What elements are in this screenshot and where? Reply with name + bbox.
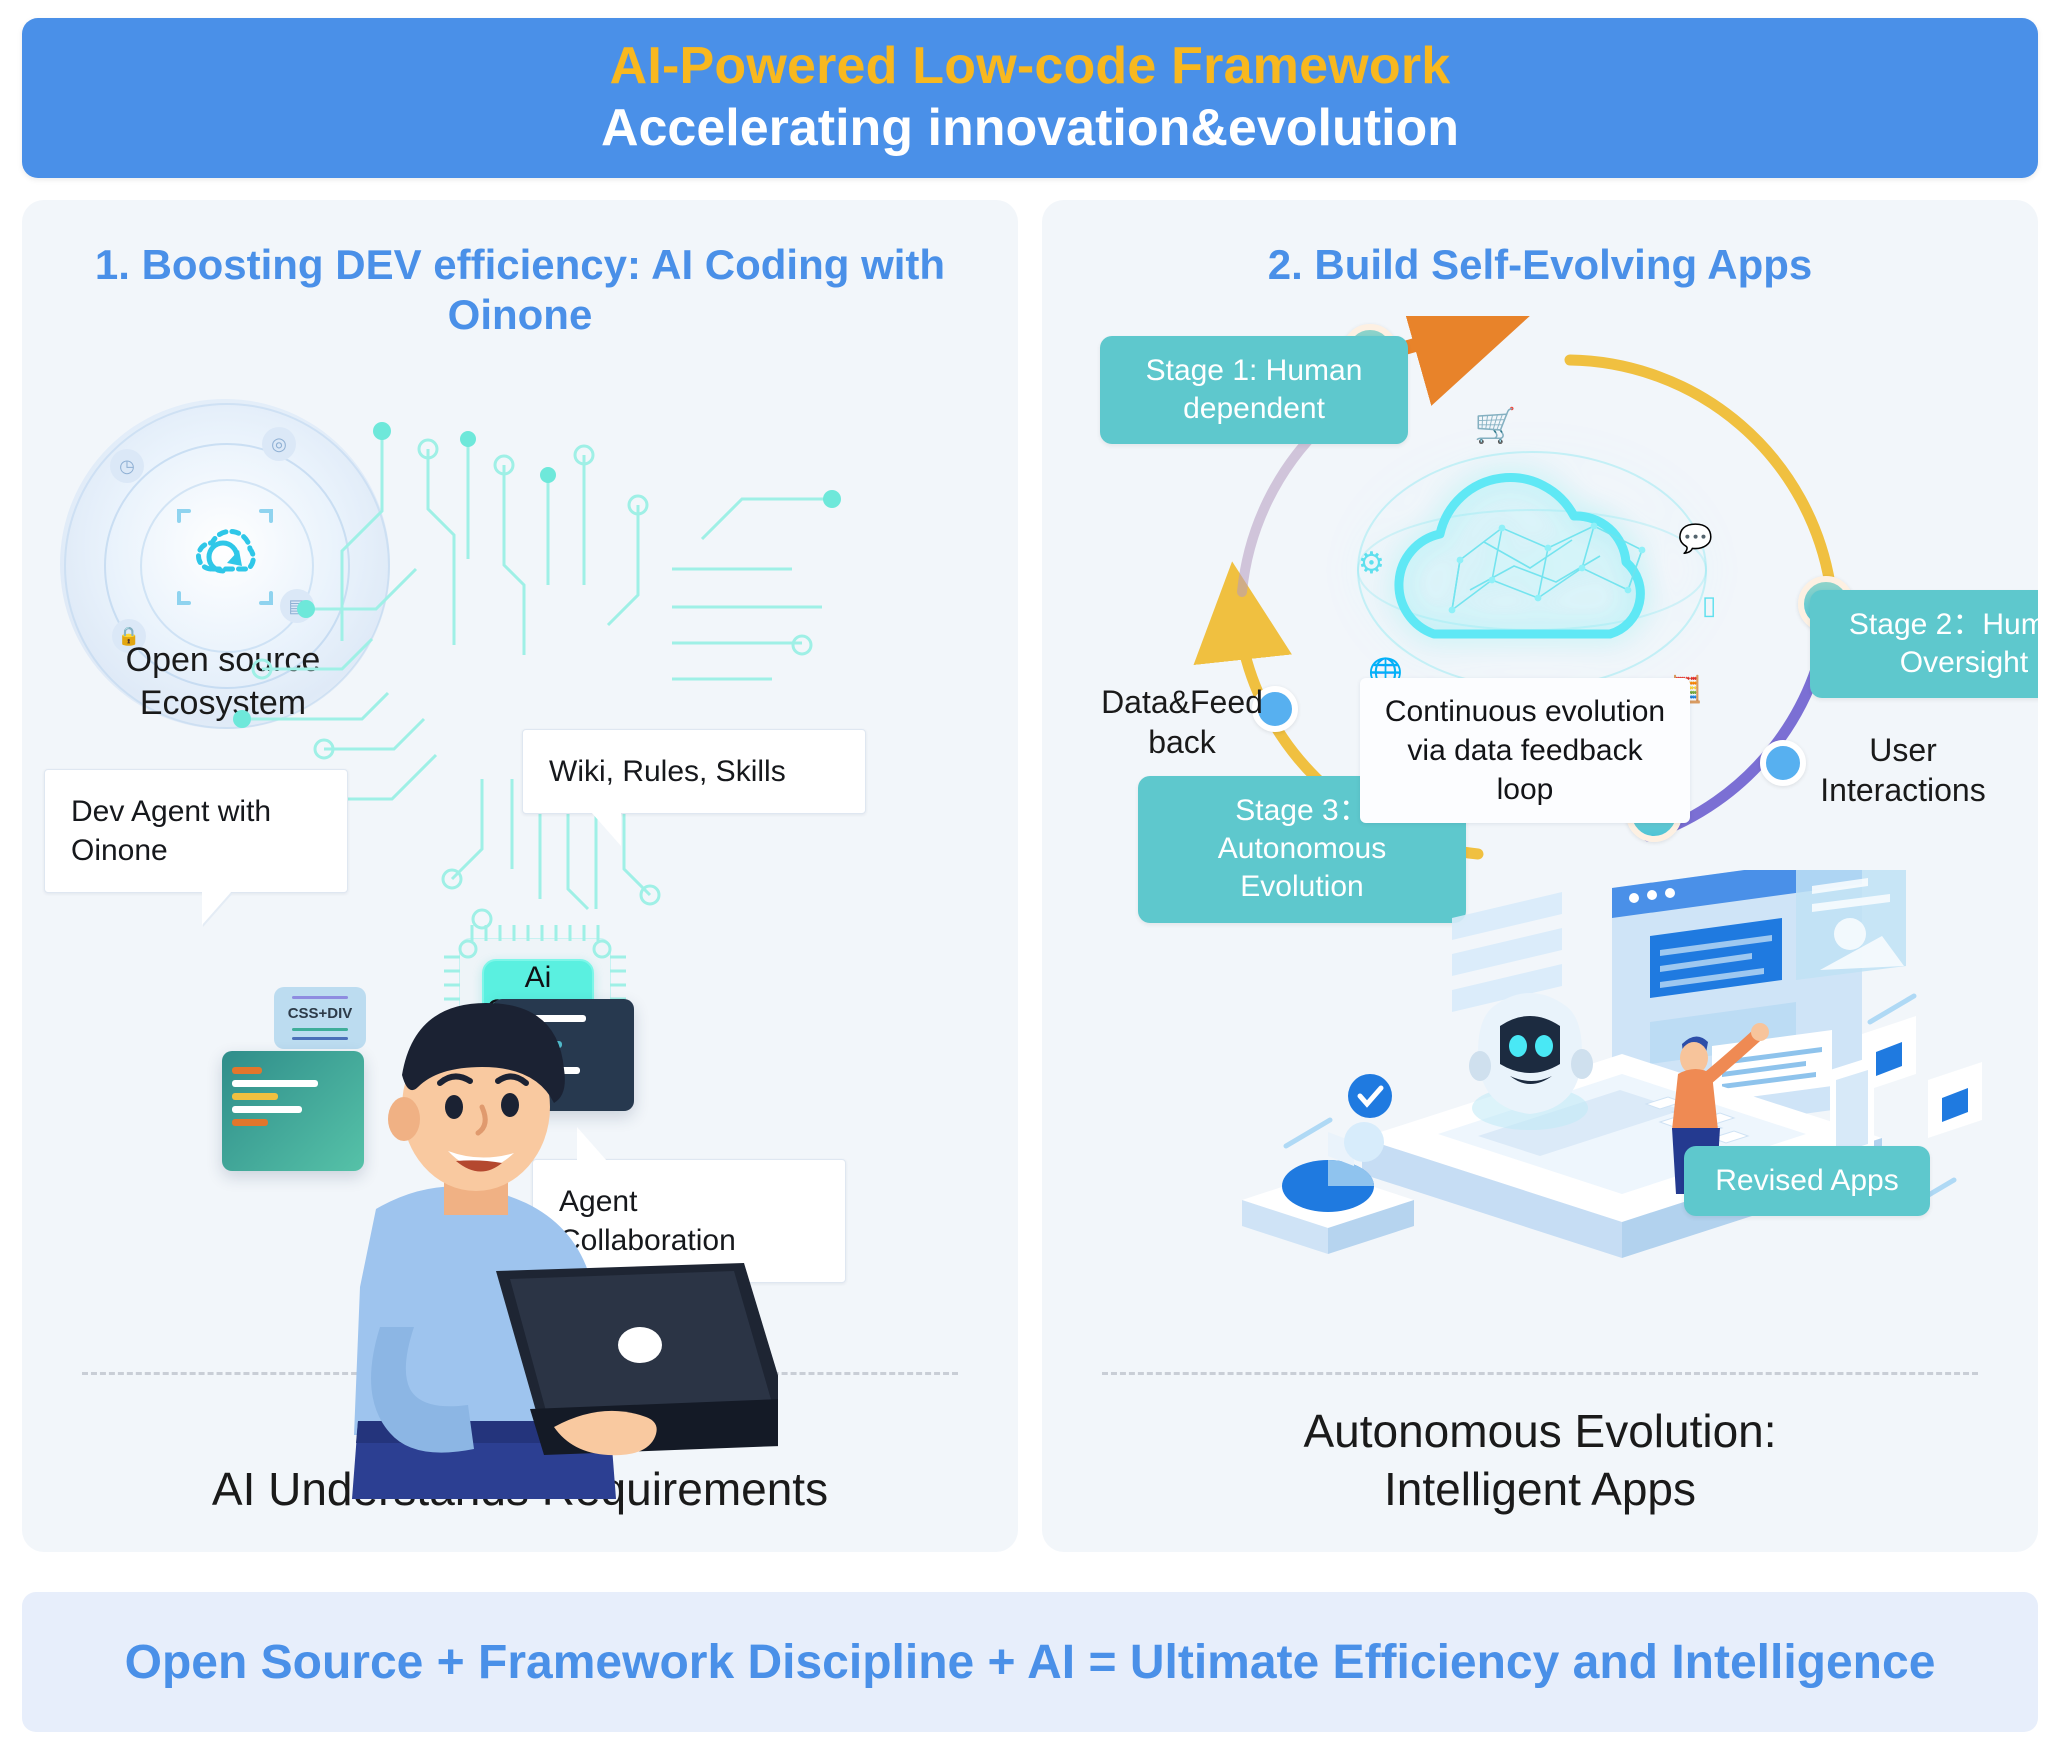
right-panel-caption: Autonomous Evolution: Intelligent Apps [1082, 1375, 1998, 1552]
right-caption-line1: Autonomous Evolution: [1082, 1403, 1998, 1461]
bubble-tail [591, 812, 621, 846]
revised-apps-badge[interactable]: Revised Apps [1684, 1146, 1930, 1216]
header-subtitle: Accelerating innovation&evolution [601, 99, 1459, 157]
infographic-page: AI-Powered Low-code Framework Accelerati… [0, 0, 2060, 1760]
cart-icon: 🛒 [1474, 406, 1516, 446]
panels-row: 1. Boosting DEV efficiency: AI Coding wi… [22, 200, 2038, 1552]
header-banner: AI-Powered Low-code Framework Accelerati… [22, 18, 2038, 178]
right-panel-illustration: 🛒 ⚙ 🌐 💬 🧮 ▯ Stage 1: Human dependent Sta… [1042, 290, 2038, 1372]
developer-illustration [258, 979, 778, 1519]
phone-icon: ▯ [1702, 590, 1716, 621]
clock-icon: ◷ [110, 449, 144, 483]
header-title: AI-Powered Low-code Framework [610, 39, 1451, 94]
bubble-wiki-rules-skills[interactable]: Wiki, Rules, Skills [522, 729, 866, 814]
left-panel-illustration: ◷ ◎ ▤ 🔒 Open source Ecosystem [22, 339, 1018, 1372]
left-panel-title: 1. Boosting DEV efficiency: AI Coding wi… [92, 240, 949, 339]
stage-2-badge[interactable]: Stage 2：Human Oversight [1810, 590, 2038, 699]
footer-text: Open Source + Framework Discipline + AI … [125, 1635, 1936, 1690]
data-feedback-label: Data&Feed back [1082, 682, 1282, 762]
left-panel: 1. Boosting DEV efficiency: AI Coding wi… [22, 200, 1018, 1552]
chat-icon: 💬 [1678, 522, 1713, 555]
bubble-wiki-text: Wiki, Rules, Skills [549, 755, 786, 788]
right-panel-title: 2. Build Self-Evolving Apps [1112, 240, 1969, 290]
right-caption-line2: Intelligent Apps [1082, 1461, 1998, 1519]
gear-icon: ⚙ [1358, 546, 1385, 581]
bubble-tail [202, 891, 232, 925]
circuit-traces [232, 419, 872, 979]
bubble-dev-agent[interactable]: Dev Agent with Oinone [44, 769, 348, 893]
user-interactions-label: User Interactions [1798, 730, 2008, 810]
intelligent-app-scene [1242, 870, 2002, 1290]
stage-1-badge[interactable]: Stage 1: Human dependent [1100, 336, 1408, 445]
stage-1-label: Stage 1: Human dependent [1146, 354, 1363, 425]
stage-2-label: Stage 2：Human Oversight [1849, 608, 2038, 679]
continuous-evolution-note: Continuous evolution via data feedback l… [1360, 678, 1690, 823]
revised-apps-label: Revised Apps [1715, 1164, 1898, 1197]
right-panel: 2. Build Self-Evolving Apps [1042, 200, 2038, 1552]
footer-banner: Open Source + Framework Discipline + AI … [22, 1592, 2038, 1732]
bubble-dev-agent-text: Dev Agent with Oinone [71, 795, 271, 867]
continuous-evolution-text: Continuous evolution via data feedback l… [1385, 695, 1665, 806]
